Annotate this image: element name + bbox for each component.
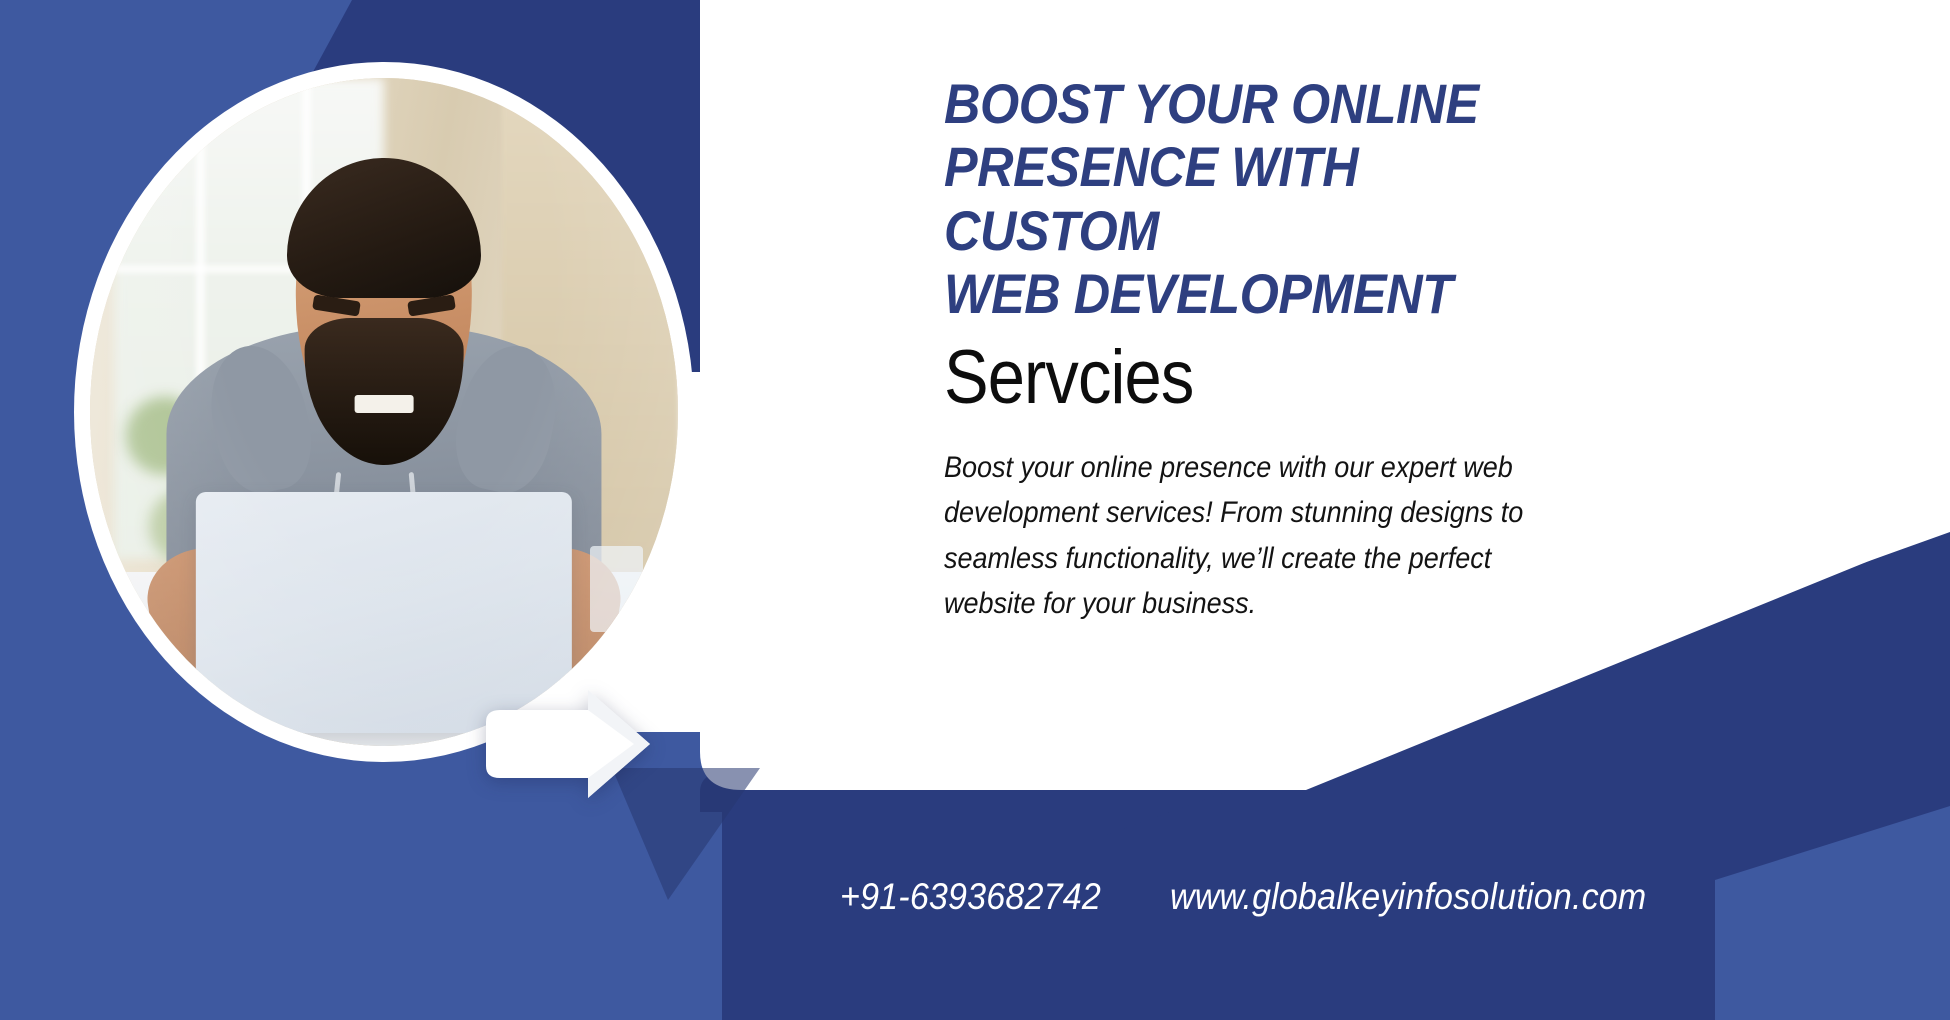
contact-website[interactable]: www.globalkeyinfosolution.com [1170,876,1646,918]
scene-light-haze [90,78,678,746]
contact-phone[interactable]: +91-6393682742 [840,876,1101,918]
page-title: BOOST YOUR ONLINE PRESENCE WITH CUSTOM W… [944,72,1574,325]
page-subtitle: Servcies [944,339,1560,417]
promo-banner: BOOST YOUR ONLINE PRESENCE WITH CUSTOM W… [0,0,1950,1020]
photo-scene [90,78,678,746]
hero-photo [90,78,678,746]
arrow-right-icon [484,688,652,800]
contact-bar: +91-6393682742 www.globalkeyinfosolution… [840,876,1688,918]
hero-photo-circle [74,62,694,762]
content-column: BOOST YOUR ONLINE PRESENCE WITH CUSTOM W… [944,72,1644,627]
body-paragraph: Boost your online presence with our expe… [944,445,1538,627]
